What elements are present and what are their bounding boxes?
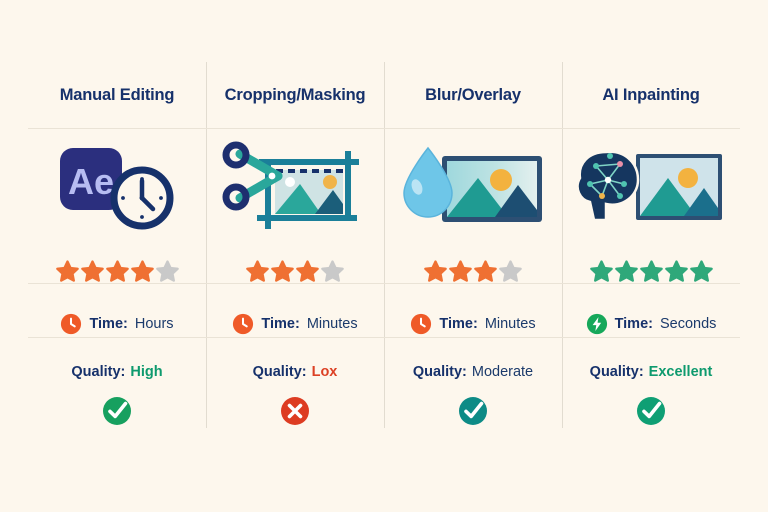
comparison-infographic: Manual Editing Cropping/Masking Blur/Ove… — [0, 0, 768, 512]
quality-metric: Quality: Moderate — [413, 364, 533, 380]
verdict-cell-blur-overlay — [384, 394, 562, 428]
star-filled — [81, 260, 104, 283]
quality-value: Moderate — [472, 364, 533, 380]
column-header-blur-overlay: Blur/Overlay — [384, 62, 562, 128]
water-droplet-image-icon — [398, 138, 548, 234]
check-circle-icon — [634, 394, 668, 428]
quality-value: High — [130, 364, 162, 380]
verdict-cell-cropping-masking — [206, 394, 384, 428]
time-metric: Time: Seconds — [586, 313, 717, 335]
star-filled — [106, 260, 129, 283]
lightning-bolt-icon — [586, 313, 608, 335]
quality-label: Quality: — [413, 364, 467, 380]
star-empty — [156, 260, 179, 283]
quality-cell-manual-editing: Quality: High — [28, 350, 206, 394]
rating-cell-cropping-masking — [206, 244, 384, 298]
rating-cell-ai-inpainting — [562, 244, 740, 298]
star-rating — [590, 260, 713, 283]
star-empty — [321, 260, 344, 283]
time-label: Time: — [615, 316, 653, 332]
star-rating — [56, 260, 179, 283]
star-filled — [615, 260, 638, 283]
star-empty — [499, 260, 522, 283]
icon-cell-blur-overlay — [384, 128, 562, 244]
icon-cell-manual-editing: Ae — [28, 128, 206, 244]
rating-cell-manual-editing — [28, 244, 206, 298]
column-header-manual-editing: Manual Editing — [28, 62, 206, 128]
star-filled — [665, 260, 688, 283]
time-metric: Time: Minutes — [410, 313, 535, 335]
column-title: Cropping/Masking — [225, 86, 366, 105]
star-filled — [449, 260, 472, 283]
quality-label: Quality: — [71, 364, 125, 380]
time-cell-cropping-masking: Time: Minutes — [206, 298, 384, 350]
verdict-cell-manual-editing — [28, 394, 206, 428]
clock-icon — [60, 313, 82, 335]
column-title: AI Inpainting — [602, 86, 699, 105]
quality-label: Quality: — [590, 364, 644, 380]
verdict-cell-ai-inpainting — [562, 394, 740, 428]
after-effects-clock-icon: Ae — [42, 138, 192, 234]
quality-metric: Quality: Lox — [253, 364, 338, 380]
rating-cell-blur-overlay — [384, 244, 562, 298]
quality-metric: Quality: High — [71, 364, 162, 380]
star-rating — [246, 260, 344, 283]
svg-text:Ae: Ae — [68, 161, 114, 202]
time-value: Seconds — [660, 316, 716, 332]
quality-metric: Quality: Excellent — [590, 364, 713, 380]
time-metric: Time: Minutes — [232, 313, 357, 335]
time-metric: Time: Hours — [60, 313, 173, 335]
icon-cell-cropping-masking — [206, 128, 384, 244]
time-cell-ai-inpainting: Time: Seconds — [562, 298, 740, 350]
star-filled — [271, 260, 294, 283]
quality-label: Quality: — [253, 364, 307, 380]
quality-cell-cropping-masking: Quality: Lox — [206, 350, 384, 394]
clock-icon — [232, 313, 254, 335]
column-header-ai-inpainting: AI Inpainting — [562, 62, 740, 128]
star-filled — [424, 260, 447, 283]
quality-value: Excellent — [649, 364, 713, 380]
column-title: Manual Editing — [60, 86, 175, 105]
star-rating — [424, 260, 522, 283]
quality-value: Lox — [312, 364, 338, 380]
time-label: Time: — [89, 316, 127, 332]
star-filled — [474, 260, 497, 283]
star-filled — [131, 260, 154, 283]
time-value: Hours — [135, 316, 174, 332]
time-value: Minutes — [485, 316, 536, 332]
time-label: Time: — [439, 316, 477, 332]
scissors-crop-image-icon — [220, 138, 370, 234]
cross-circle-icon — [278, 394, 312, 428]
column-title: Blur/Overlay — [425, 86, 521, 105]
icon-cell-ai-inpainting — [562, 128, 740, 244]
time-value: Minutes — [307, 316, 358, 332]
comparison-table: Manual Editing Cropping/Masking Blur/Ove… — [28, 62, 740, 428]
star-filled — [590, 260, 613, 283]
time-cell-manual-editing: Time: Hours — [28, 298, 206, 350]
star-filled — [640, 260, 663, 283]
star-filled — [246, 260, 269, 283]
star-filled — [296, 260, 319, 283]
brain-network-image-icon — [576, 138, 726, 234]
clock-icon — [410, 313, 432, 335]
check-circle-icon — [100, 394, 134, 428]
quality-cell-blur-overlay: Quality: Moderate — [384, 350, 562, 394]
column-header-cropping-masking: Cropping/Masking — [206, 62, 384, 128]
check-circle-icon — [456, 394, 490, 428]
star-filled — [690, 260, 713, 283]
star-filled — [56, 260, 79, 283]
time-label: Time: — [261, 316, 299, 332]
quality-cell-ai-inpainting: Quality: Excellent — [562, 350, 740, 394]
time-cell-blur-overlay: Time: Minutes — [384, 298, 562, 350]
